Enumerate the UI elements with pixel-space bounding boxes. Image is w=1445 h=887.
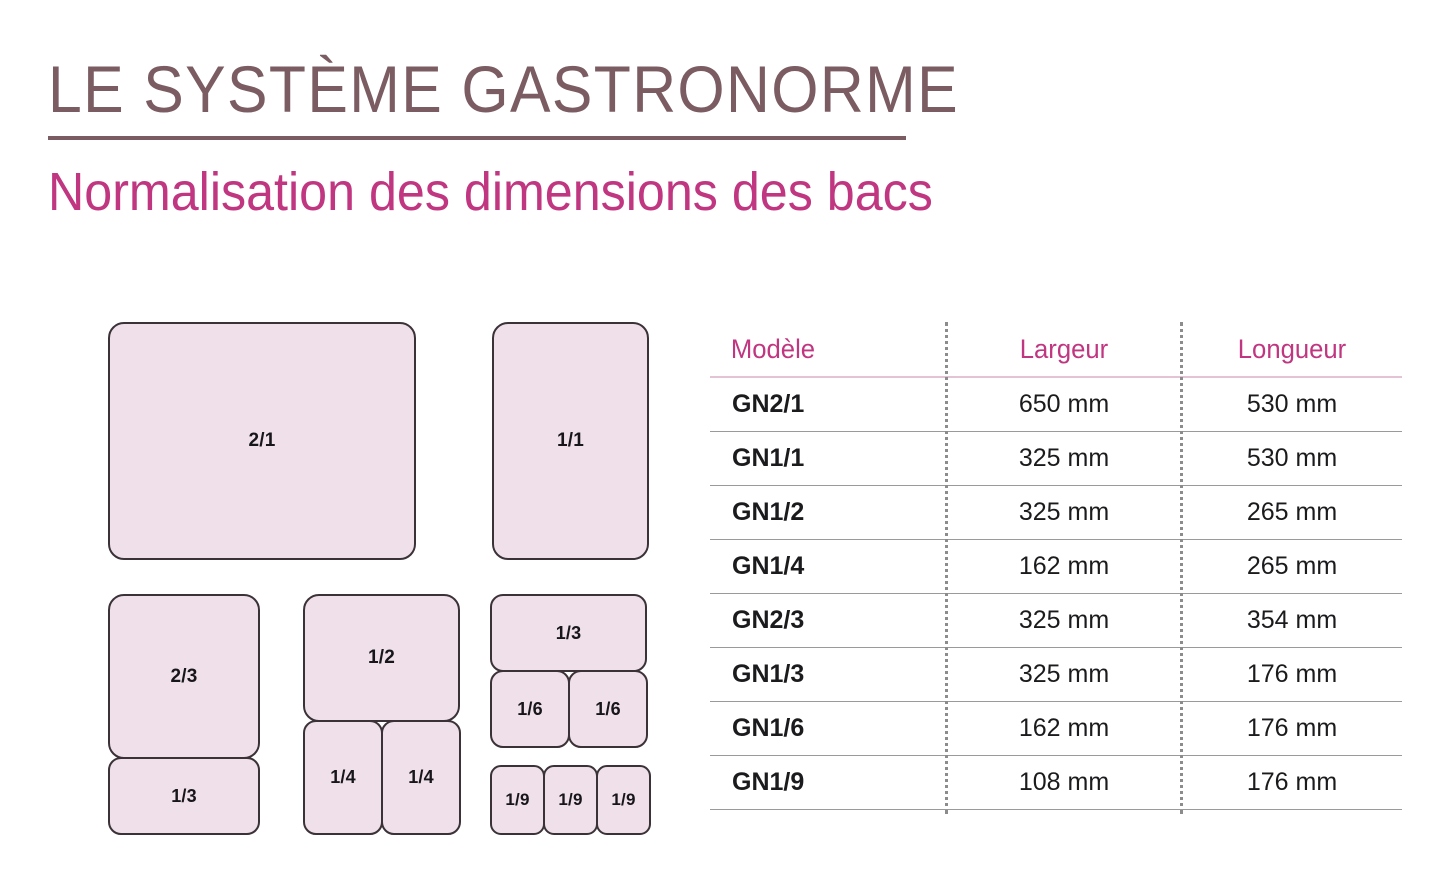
pan-1-6: 1/6 xyxy=(490,670,570,748)
table-row: GN1/4162 mm265 mm xyxy=(710,540,1402,594)
cell-width: 162 mm xyxy=(946,552,1182,581)
table-row: GN1/3325 mm176 mm xyxy=(710,648,1402,702)
pan-label: 1/2 xyxy=(368,647,395,669)
pan-label: 1/6 xyxy=(517,699,543,720)
pan-label: 1/4 xyxy=(408,767,434,788)
pan-1-6: 1/6 xyxy=(568,670,648,748)
pan-label: 1/1 xyxy=(557,430,584,452)
pan-2-1: 2/1 xyxy=(108,322,416,560)
table-row: GN2/3325 mm354 mm xyxy=(710,594,1402,648)
pan-1-4: 1/4 xyxy=(381,720,461,835)
cell-model: GN2/1 xyxy=(710,390,946,419)
pan-1-9: 1/9 xyxy=(543,765,598,835)
cell-length: 354 mm xyxy=(1182,606,1402,635)
table-header-row: Modèle Largeur Longueur xyxy=(710,322,1402,378)
table-row: GN1/9108 mm176 mm xyxy=(710,756,1402,810)
pan-1-3: 1/3 xyxy=(108,757,260,835)
column-divider-2 xyxy=(1180,322,1183,814)
table-row: GN2/1650 mm530 mm xyxy=(710,378,1402,432)
pan-label: 1/6 xyxy=(595,699,621,720)
pan-label: 1/4 xyxy=(330,767,356,788)
cell-length: 176 mm xyxy=(1182,768,1402,797)
cell-model: GN1/6 xyxy=(710,714,946,743)
header-length: Longueur xyxy=(1188,334,1397,365)
gastronorm-pan-diagram: 2/11/12/31/31/21/41/41/31/61/61/91/91/9 xyxy=(0,0,700,887)
pan-1-9: 1/9 xyxy=(490,765,545,835)
pan-1-9: 1/9 xyxy=(596,765,651,835)
cell-length: 530 mm xyxy=(1182,444,1402,473)
cell-length: 176 mm xyxy=(1182,714,1402,743)
cell-width: 650 mm xyxy=(946,390,1182,419)
cell-length: 265 mm xyxy=(1182,498,1402,527)
cell-width: 325 mm xyxy=(946,660,1182,689)
cell-model: GN1/1 xyxy=(710,444,946,473)
header-width: Largeur xyxy=(952,334,1176,365)
pan-2-3: 2/3 xyxy=(108,594,260,759)
pan-1-2: 1/2 xyxy=(303,594,460,722)
cell-width: 108 mm xyxy=(946,768,1182,797)
header-model: Modèle xyxy=(710,334,934,365)
pan-label: 2/3 xyxy=(170,666,197,688)
cell-model: GN1/3 xyxy=(710,660,946,689)
cell-width: 325 mm xyxy=(946,498,1182,527)
pan-label: 1/9 xyxy=(611,790,635,810)
cell-model: GN1/2 xyxy=(710,498,946,527)
column-divider-1 xyxy=(945,322,948,814)
pan-1-4: 1/4 xyxy=(303,720,383,835)
dimensions-table: Modèle Largeur Longueur GN2/1650 mm530 m… xyxy=(710,322,1402,810)
cell-model: GN1/9 xyxy=(710,768,946,797)
cell-width: 325 mm xyxy=(946,606,1182,635)
pan-1-1: 1/1 xyxy=(492,322,649,560)
table-row: GN1/6162 mm176 mm xyxy=(710,702,1402,756)
pan-label: 1/3 xyxy=(556,623,582,644)
pan-label: 1/3 xyxy=(171,786,197,807)
cell-model: GN2/3 xyxy=(710,606,946,635)
cell-length: 530 mm xyxy=(1182,390,1402,419)
table-row: GN1/1325 mm530 mm xyxy=(710,432,1402,486)
cell-model: GN1/4 xyxy=(710,552,946,581)
pan-label: 1/9 xyxy=(505,790,529,810)
cell-length: 176 mm xyxy=(1182,660,1402,689)
cell-width: 325 mm xyxy=(946,444,1182,473)
table-row: GN1/2325 mm265 mm xyxy=(710,486,1402,540)
cell-width: 162 mm xyxy=(946,714,1182,743)
cell-length: 265 mm xyxy=(1182,552,1402,581)
pan-label: 2/1 xyxy=(248,430,275,452)
pan-1-3: 1/3 xyxy=(490,594,647,672)
pan-label: 1/9 xyxy=(558,790,582,810)
table-body: GN2/1650 mm530 mmGN1/1325 mm530 mmGN1/23… xyxy=(710,378,1402,810)
